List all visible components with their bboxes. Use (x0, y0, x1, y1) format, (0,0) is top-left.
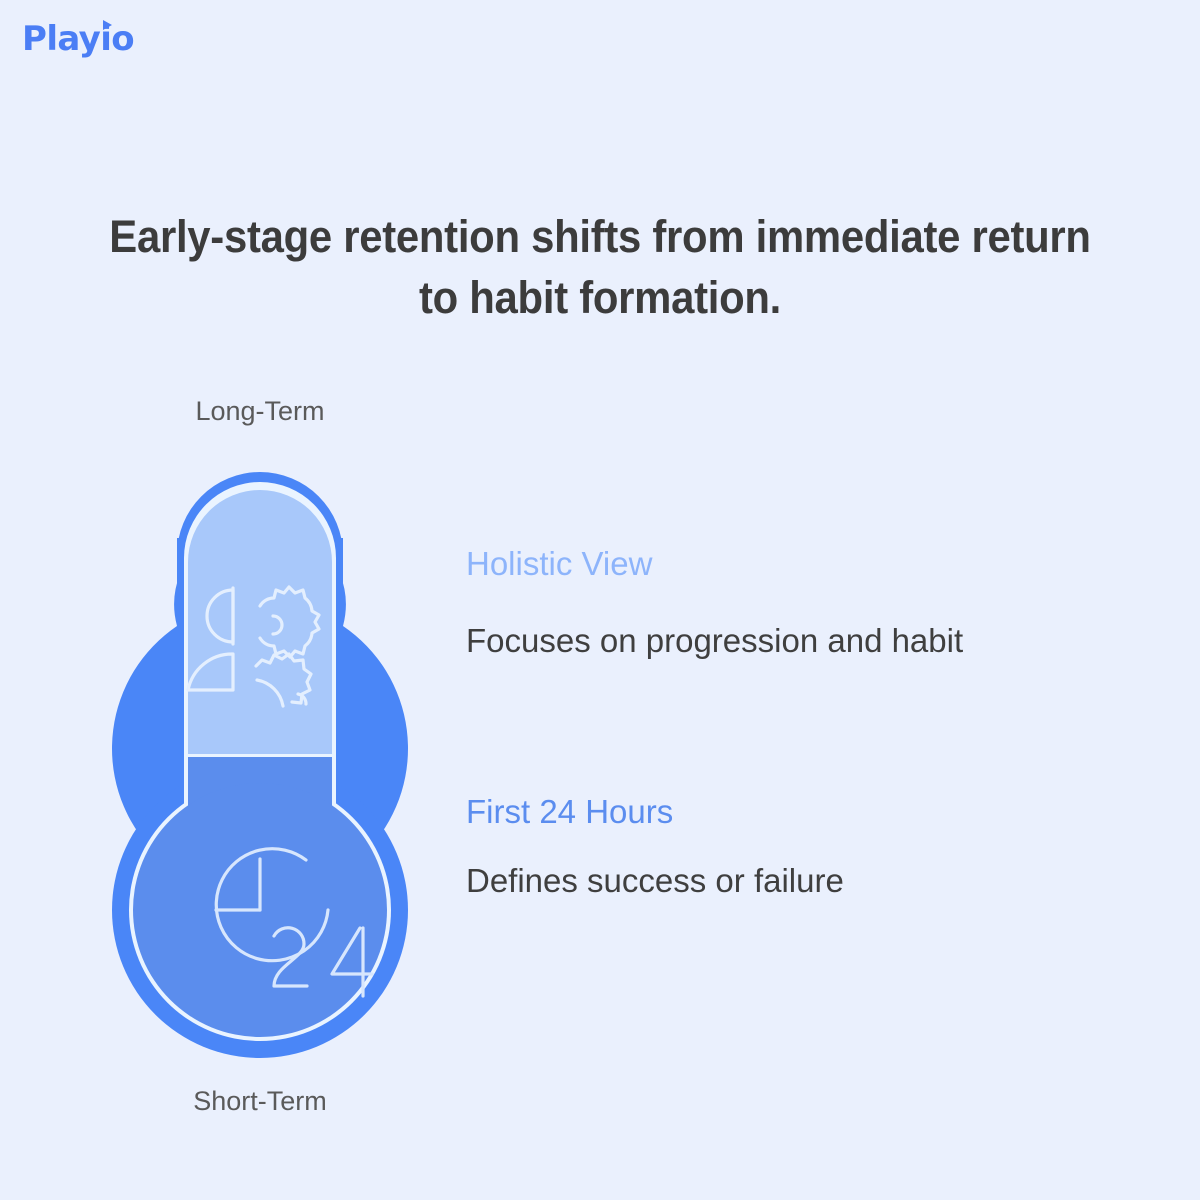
brand-name: Playio (22, 22, 134, 56)
thermometer-diagram: Long-Term (60, 396, 460, 1136)
info-title: Holistic View (466, 543, 1126, 584)
thermometer-upper-fill (188, 490, 332, 754)
info-description: Defines success or failure (466, 860, 1126, 901)
info-block-holistic-view: Holistic View Focuses on progression and… (466, 543, 1126, 662)
brand-logo[interactable]: Playio (22, 22, 134, 56)
info-description: Focuses on progression and habit (466, 620, 1126, 661)
thermometer-graphic (60, 458, 460, 1068)
info-title: First 24 Hours (466, 791, 1126, 832)
play-triangle-icon (103, 20, 112, 30)
thermometer-bottom-label: Short-Term (60, 1086, 460, 1117)
page-title: Early-stage retention shifts from immedi… (98, 206, 1102, 328)
thermometer-top-label: Long-Term (60, 396, 460, 427)
info-block-first-24-hours: First 24 Hours Defines success or failur… (466, 791, 1126, 902)
